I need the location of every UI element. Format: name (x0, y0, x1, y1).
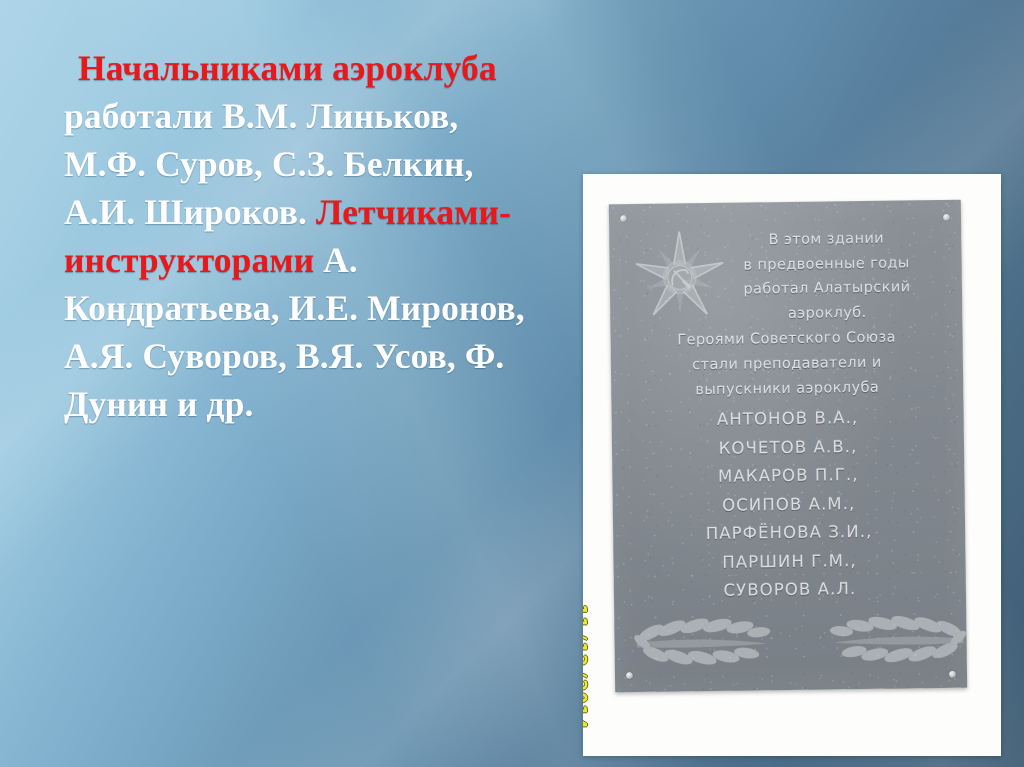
plaque-heading-line: аэроклуб. (698, 299, 956, 327)
plaque-names: АНТОНОВ В.А., КОЧЕТОВ А.В., МАКАРОВ П.Г.… (611, 403, 966, 607)
plaque-name-line: СУВОРОВ А.Л. (614, 574, 966, 607)
plaque-name-line: АНТОНОВ В.А., (611, 403, 963, 436)
screw-icon (620, 215, 627, 222)
slide-text-block: Начальниками аэроклуба работали В.М. Лин… (64, 44, 534, 428)
memorial-plaque: В этом здании в предвоенные годы работал… (609, 200, 967, 693)
slide-paragraph: Начальниками аэроклуба работали В.М. Лин… (64, 44, 534, 428)
plaque-name-line: ОСИПОВ А.М., (613, 488, 965, 521)
camera-date-stamp: 11/12/2014 (583, 604, 591, 729)
plaque-heading-line: В этом здании (697, 226, 955, 254)
laurel-branch-icon (624, 604, 976, 671)
plaque-name-line: ПАРФЁНОВА З.И., (613, 517, 965, 550)
plaque-inscription: В этом здании в предвоенные годы работал… (609, 226, 966, 607)
plaque-name-line: ПАРШИН Г.М., (613, 545, 965, 578)
plaque-photograph: В этом здании в предвоенные годы работал… (583, 174, 1001, 756)
presentation-slide: Начальниками аэроклуба работали В.М. Лин… (0, 0, 1024, 767)
plaque-body-line: выпускники аэроклуба (611, 375, 963, 405)
plaque-heading: В этом здании в предвоенные годы работал… (609, 226, 962, 329)
screw-icon (949, 671, 956, 678)
screw-icon (626, 672, 633, 679)
plaque-name-line: КОЧЕТОВ А.В., (612, 431, 964, 464)
text-run-red-1: Начальниками аэроклуба (78, 48, 497, 88)
plaque-heading-line: в предвоенные годы (697, 250, 955, 278)
plaque-body: Героями Советского Союза стали преподава… (610, 325, 963, 405)
plaque-heading-line: работал Алатырский (698, 275, 956, 303)
screw-icon (943, 214, 950, 221)
plaque-name-line: МАКАРОВ П.Г., (612, 460, 964, 493)
